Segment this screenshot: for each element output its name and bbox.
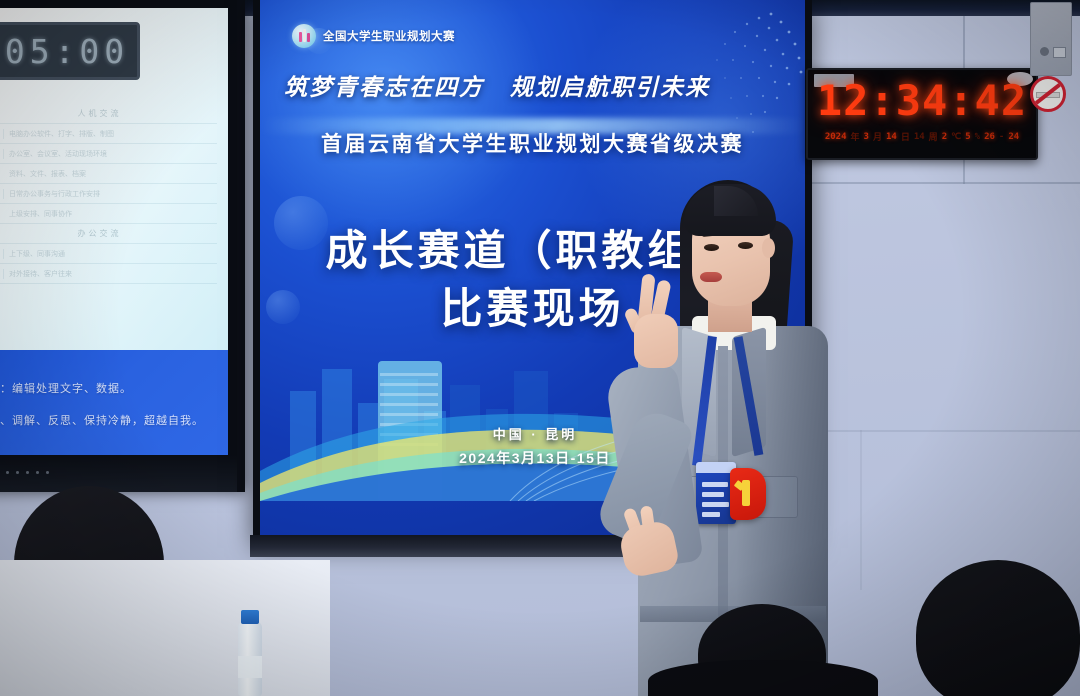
audience-table	[0, 560, 330, 696]
notes-line-1: 流程：编辑处理文字、数据。	[0, 380, 132, 396]
clock-date-field: 3	[864, 132, 869, 142]
slogan-right: 规划启航职引未来	[510, 68, 710, 102]
presenter-gesturing-hand	[626, 274, 684, 370]
clock-date-field: 日	[901, 130, 910, 143]
presenter-ear	[762, 238, 775, 258]
presenter-lips	[700, 272, 722, 282]
clock-date-field: -	[999, 132, 1004, 142]
left-screen-bezel	[0, 455, 237, 492]
clock-date-field: 24	[1008, 132, 1019, 142]
clock-date-field: 2	[942, 132, 947, 142]
left-display-screen[interactable]: 人机交流 序 电脑办公软件、打字、排版、制图 序 办公室、会议室、活动现场环境 …	[0, 0, 245, 492]
presenter-lower-hand	[618, 506, 688, 580]
slide-subtitle: 首届云南省大学生职业规划大赛省级决赛	[260, 128, 805, 158]
water-bottle	[238, 622, 262, 696]
no-smoking-icon	[1030, 76, 1066, 112]
clock-date-field: 14	[914, 132, 925, 142]
device-display-icon	[1053, 47, 1066, 58]
wall-mounted-control-unit[interactable]	[1030, 2, 1072, 76]
notes-line-2: 自我、调解、反思、保持冷静，超越自我。	[0, 412, 204, 428]
bottle-cap	[241, 610, 259, 624]
left-notes-panel: 流程：编辑处理文字、数据。 自我、调解、反思、保持冷静，超越自我。	[0, 350, 228, 455]
clock-date-field: 周	[929, 130, 938, 143]
clock-date-display: 2024 年 3 月 14 日 14 周 2 ℃ 5 % 26 - 24	[808, 130, 1036, 143]
clock-date-field: 14	[886, 132, 897, 142]
red-number-emblem	[730, 468, 766, 520]
clock-date-field: 年	[851, 130, 860, 143]
slide-slogan: 筑梦青春志在四方 规划启航职引未来	[284, 68, 784, 102]
wall-seam	[798, 430, 1080, 432]
clock-date-field: 月	[873, 130, 882, 143]
clock-date-field: 5	[965, 132, 970, 142]
clock-date-field: 26	[984, 132, 995, 142]
competition-logo-icon	[292, 24, 316, 48]
competition-logo-row: 全国大学生职业规划大赛	[292, 24, 455, 48]
bezel-control-buttons[interactable]	[0, 471, 49, 474]
clock-date-field: ℃	[951, 132, 961, 142]
presentation-room-scene: 人机交流 序 电脑办公软件、打字、排版、制图 序 办公室、会议室、活动现场环境 …	[0, 0, 1080, 696]
logo-text: 全国大学生职业规划大赛	[323, 28, 455, 44]
slogan-left: 筑梦青春志在四方	[284, 68, 484, 102]
wall-seam	[798, 182, 1080, 184]
clock-date-field: %	[975, 132, 980, 142]
countdown-timer: 05:00	[0, 22, 140, 80]
bottle-label	[238, 656, 262, 678]
clock-time-display: 12:34:42	[808, 76, 1036, 125]
wall-seam	[860, 430, 862, 590]
clock-date-field: 2024	[825, 132, 847, 142]
digital-wall-clock: 12:34:42 2024 年 3 月 14 日 14 周 2 ℃ 5 % 26…	[806, 68, 1038, 160]
device-knob-icon[interactable]	[1040, 47, 1049, 56]
